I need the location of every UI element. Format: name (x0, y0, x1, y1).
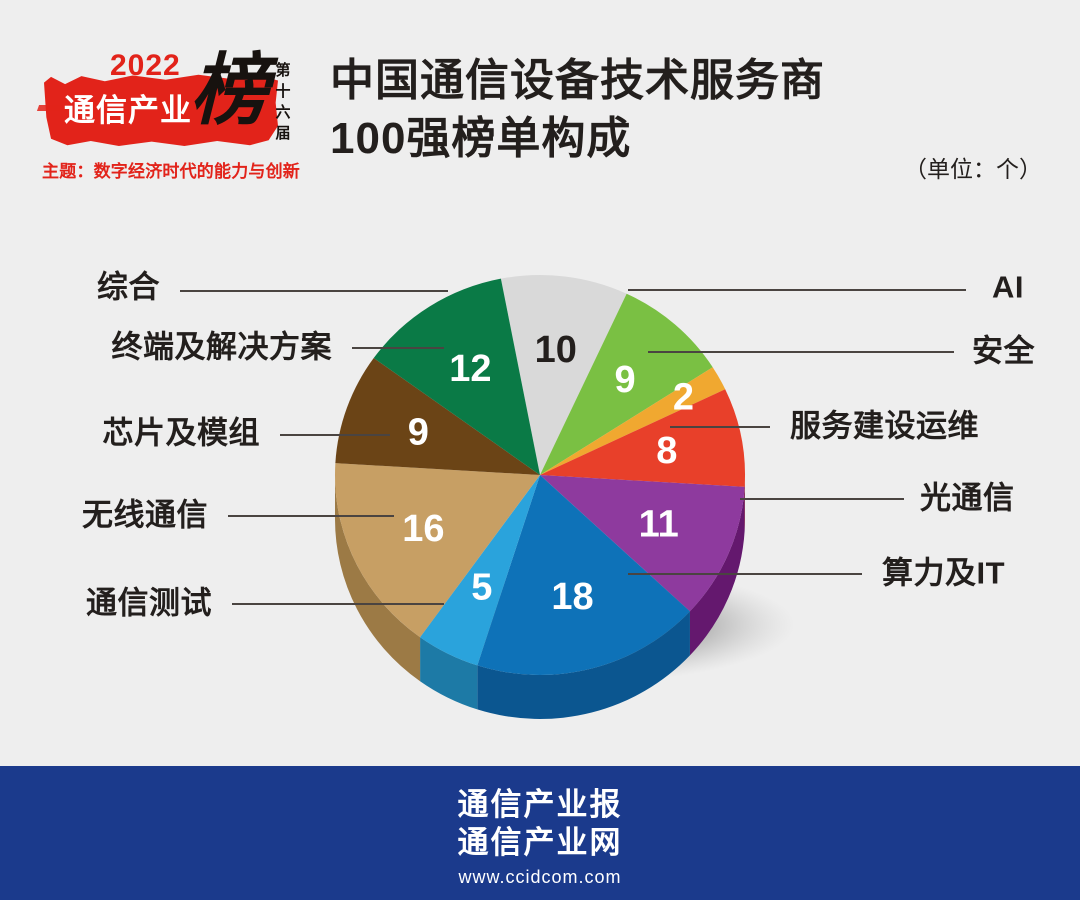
pie-value-通信测试: 5 (471, 566, 492, 608)
pie-value-算力及IT: 18 (551, 576, 593, 618)
label-suanli: 算力及IT (882, 558, 1005, 589)
label-anquan: 安全 (972, 336, 1035, 367)
label-ai-text: AI (992, 270, 1024, 305)
label-ai: AI (992, 272, 1024, 303)
pie-chart: 109281118516912 (280, 225, 800, 725)
unit-note: （单位：个） (904, 150, 1042, 184)
footer-brand-paper: 通信产业报 (0, 786, 1080, 824)
label-zhongduan: 终端及解决方案 (40, 332, 332, 363)
label-guang-text: 光通信 (920, 481, 1015, 516)
footer-banner: 通信产业报 通信产业网 www.ccidcom.com (0, 766, 1080, 900)
pie-value-芯片及模组: 9 (408, 412, 429, 454)
label-suanli-text: 算力及IT (882, 556, 1005, 591)
header: 2022 通信产业 榜 第十六届 主题：数字经济时代的能力与创新 中国通信设备技… (0, 0, 1080, 215)
label-zhongduan-text: 终端及解决方案 (112, 330, 333, 365)
footer-content: 通信产业报 通信产业网 www.ccidcom.com (0, 786, 1080, 888)
logo-theme: 主题：数字经济时代的能力与创新 (42, 157, 300, 182)
pie-chart-area: 109281118516912 综合 终端及解决方案 芯片及模组 无线通信 通信… (0, 215, 1080, 760)
pie-value-AI: 9 (614, 359, 635, 401)
label-ceshi-text: 通信测试 (86, 586, 212, 621)
leader-line-zonghe (180, 290, 448, 292)
leader-line-wuxian (228, 515, 394, 517)
page-title: 中国通信设备技术服务商100强榜单构成 (330, 52, 950, 168)
logo-main-text: 通信产业 (64, 85, 192, 130)
label-ceshi: 通信测试 (40, 588, 212, 619)
pie-value-安全: 2 (673, 376, 694, 418)
leader-line-xinpian (280, 434, 390, 436)
pie-value-光通信: 11 (639, 504, 679, 546)
leader-line-suanli (628, 573, 862, 575)
logo-calligraphy-bang: 榜 (190, 52, 268, 130)
label-anquan-text: 安全 (972, 334, 1035, 369)
label-wuxian: 无线通信 (40, 500, 208, 531)
label-zonghe: 综合 (40, 272, 160, 303)
leader-line-anquan (648, 351, 954, 353)
leader-line-zhongduan (352, 347, 444, 349)
label-xinpian: 芯片及模组 (40, 418, 260, 449)
leader-line-ceshi (232, 603, 444, 605)
pie-value-终端及解决方案: 12 (449, 348, 491, 390)
footer-url[interactable]: www.ccidcom.com (0, 867, 1080, 888)
leader-line-ai (628, 289, 966, 291)
label-fuwu-text: 服务建设运维 (790, 409, 979, 444)
label-xinpian-text: 芯片及模组 (103, 416, 261, 451)
pie-value-服务建设运维: 8 (656, 430, 677, 472)
footer-brand-web: 通信产业网 (0, 824, 1080, 862)
infographic-page: 2022 通信产业 榜 第十六届 主题：数字经济时代的能力与创新 中国通信设备技… (0, 0, 1080, 900)
label-wuxian-text: 无线通信 (82, 498, 208, 533)
leader-line-fuwu (670, 426, 770, 428)
award-logo: 2022 通信产业 榜 第十六届 主题：数字经济时代的能力与创新 (38, 47, 310, 187)
logo-year: 2022 (110, 49, 181, 83)
pie-value-无线通信: 16 (402, 508, 444, 550)
label-guang: 光通信 (920, 483, 1015, 514)
logo-edition: 第十六届 (270, 61, 296, 145)
leader-line-guang (740, 498, 904, 500)
label-zonghe-text: 综合 (97, 270, 160, 305)
pie-value-综合: 10 (535, 329, 577, 371)
label-fuwu: 服务建设运维 (790, 411, 979, 442)
